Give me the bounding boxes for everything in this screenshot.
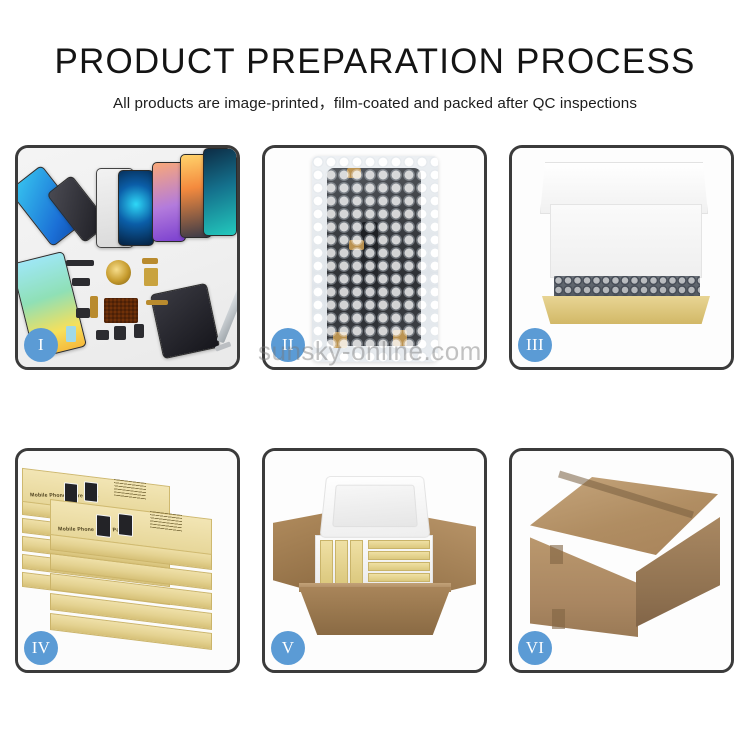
pcb-board-part	[104, 298, 138, 323]
kraft-box-front	[542, 296, 710, 324]
step-badge-2: II	[271, 328, 305, 362]
tweezers-tool	[216, 287, 237, 344]
process-step-1: I	[15, 145, 240, 370]
chip-part	[66, 260, 94, 266]
process-step-3: III	[509, 145, 734, 370]
phone-back-housing	[150, 283, 220, 360]
yellow-retail-box	[368, 551, 430, 560]
battery-part	[134, 324, 144, 338]
yellow-retail-box	[368, 573, 430, 582]
product-preparation-infographic: PRODUCT PREPARATION PROCESS All products…	[0, 0, 750, 750]
step-badge-5: V	[271, 631, 305, 665]
carton-tape-patch-lower	[552, 609, 565, 629]
speaker-part	[114, 326, 126, 340]
foam-box-inner	[315, 535, 433, 587]
process-step-2: II	[262, 145, 487, 370]
process-step-4: Mobile Phone Spare Parts Mobile Phone Sp…	[15, 448, 240, 673]
small-module-part	[72, 278, 90, 286]
flex-cable-part	[144, 268, 158, 286]
step-badge-4: IV	[24, 631, 58, 665]
bubble-texture-overlay	[312, 156, 438, 362]
yellow-retail-box	[350, 540, 363, 584]
process-step-6: VI	[509, 448, 734, 673]
carton-body	[299, 587, 451, 635]
process-step-grid: I II III	[15, 145, 735, 673]
box-label-screen-image	[118, 513, 133, 537]
phone-display-teal	[118, 170, 154, 246]
sensor-part	[66, 326, 76, 342]
carton-tape-patch-upper	[550, 545, 563, 564]
box-label-screen-image	[84, 481, 98, 503]
camera-module-part	[76, 308, 90, 318]
step-badge-3: III	[518, 328, 552, 362]
page-title: PRODUCT PREPARATION PROCESS	[0, 44, 750, 81]
box-label-text: Mobile Phone Spare Parts	[58, 526, 127, 533]
phone-display-green	[203, 148, 237, 236]
yellow-retail-box	[320, 540, 333, 584]
gold-coil-part	[106, 260, 131, 285]
yellow-retail-box	[368, 562, 430, 571]
foam-box-lid	[320, 476, 431, 538]
foam-lid-inset	[332, 485, 418, 527]
yellow-retail-box	[368, 540, 430, 549]
antenna-part	[146, 300, 168, 305]
step-badge-6: VI	[518, 631, 552, 665]
box-label-screen-image	[96, 514, 111, 538]
connector-part	[142, 258, 158, 264]
vibrator-part	[96, 330, 109, 340]
yellow-retail-box	[335, 540, 348, 584]
ribbon-part	[90, 296, 98, 318]
inner-foam-sheet	[550, 204, 702, 278]
box-label-spec-lines	[114, 479, 146, 501]
box-label-spec-lines	[150, 511, 182, 533]
process-step-5: V	[262, 448, 487, 673]
page-subtitle: All products are image-printed，film-coat…	[0, 91, 750, 113]
header: PRODUCT PREPARATION PROCESS All products…	[0, 0, 750, 113]
step-badge-1: I	[24, 328, 58, 362]
